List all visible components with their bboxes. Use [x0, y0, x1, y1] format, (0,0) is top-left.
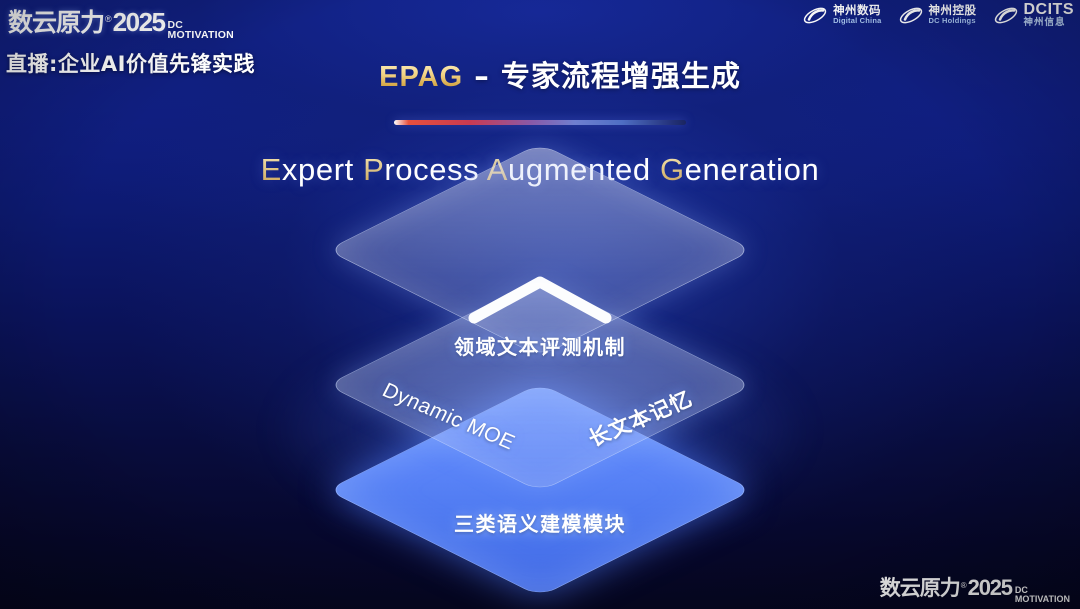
watermark-year: 2025	[968, 575, 1012, 601]
watermark-motivation: MOTIVATION	[1015, 594, 1070, 604]
stack-layer-bottom	[326, 383, 753, 597]
subtitle-rest-process: rocess	[384, 152, 486, 187]
subtitle-cap-e: E	[261, 152, 282, 187]
brand-logo: 数云原力® 2025 DC MOTIVATION	[8, 3, 234, 43]
watermark-registered-mark: ®	[961, 581, 967, 590]
subtitle-rest-augmented: ugmented	[508, 152, 660, 187]
layer-label-middle-left: Dynamic MOE	[378, 379, 519, 455]
partner-logo-group: 神州数码 Digital China 神州控股 DC Holdings DCIT…	[802, 2, 1074, 28]
subtitle-cap-p: P	[363, 152, 384, 187]
layer-label-top: 领域文本评测机制	[454, 331, 626, 360]
layer-label-bottom: 三类语义建模模块	[454, 508, 626, 537]
watermark-dc-motivation: DC MOTIVATION	[1015, 586, 1070, 603]
title-acronym: EPAG	[379, 61, 463, 93]
subtitle-cap-g: G	[660, 152, 685, 187]
partner-logo-dcits: DCITS 神州信息	[993, 2, 1075, 28]
subtitle-cap-a: A	[487, 152, 508, 187]
footer-watermark-logo: 数云原力® 2025 DC MOTIVATION	[880, 572, 1070, 605]
chevron-up-icon	[464, 270, 616, 328]
brand-logo-chinese: 数云原力	[8, 3, 104, 39]
slide-canvas: 数云原力® 2025 DC MOTIVATION 直播:企业AI价值先锋实践 神…	[0, 0, 1080, 609]
partner-name-cn: 神州信息	[1024, 18, 1075, 28]
partner-logo-dc-holdings: 神州控股 DC Holdings	[898, 5, 977, 26]
partner-name-en: Digital China	[833, 17, 881, 25]
brand-logo-dc-motivation: DC MOTIVATION	[168, 21, 234, 40]
layer-label-middle-right: 长文本记忆	[583, 383, 698, 453]
swirl-logo-icon	[993, 5, 1019, 26]
watermark-chinese: 数云原力	[880, 572, 960, 602]
slide-subtitle: Expert Process Augmented Generation	[0, 152, 1080, 188]
title-chinese: 专家流程增强生成	[501, 59, 741, 93]
swirl-logo-icon	[802, 5, 828, 26]
subtitle-rest-generation: eneration	[685, 152, 820, 187]
swirl-logo-icon	[898, 5, 924, 26]
title-divider-line	[394, 120, 686, 125]
title-dash: –	[463, 59, 501, 93]
brand-motivation: MOTIVATION	[168, 29, 234, 41]
partner-name-en: DC Holdings	[929, 17, 977, 25]
partner-name-en: DCITS	[1024, 2, 1075, 18]
partner-logo-digital-china: 神州数码 Digital China	[802, 5, 881, 26]
subtitle-rest-expert: xpert	[282, 152, 363, 187]
brand-registered-mark: ®	[105, 14, 112, 24]
slide-title: EPAG – 专家流程增强生成	[0, 53, 1080, 95]
brand-logo-year: 2025	[113, 7, 165, 38]
